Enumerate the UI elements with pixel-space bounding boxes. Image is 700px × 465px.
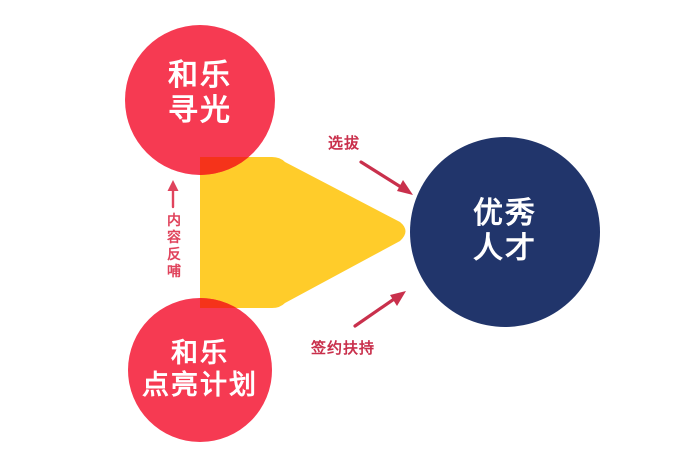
connector-label-xuanba: 选拔 xyxy=(328,132,360,153)
connector-arrow-neirong-fanbu xyxy=(168,180,179,207)
diagram-canvas: 和乐 寻光 和乐 点亮计划 优秀 人才 选拔 签约扶持 内容 反哺 xyxy=(0,0,700,465)
yellow-funnel-shape xyxy=(200,157,406,308)
node-label-heyue-xunguang: 和乐 寻光 xyxy=(125,58,275,129)
diagram-svg xyxy=(0,0,700,465)
connector-label-qianyue-fuchi: 签约扶持 xyxy=(311,337,375,358)
node-label-youxiu-rencai: 优秀 人才 xyxy=(420,196,590,267)
connector-arrow-qianyue-fuchi xyxy=(355,291,406,326)
connector-arrow-xuanba xyxy=(361,162,413,195)
node-label-heyue-dianliang: 和乐 点亮计划 xyxy=(122,338,278,402)
connector-label-neirong-fanbu: 内容 反哺 xyxy=(164,212,184,280)
